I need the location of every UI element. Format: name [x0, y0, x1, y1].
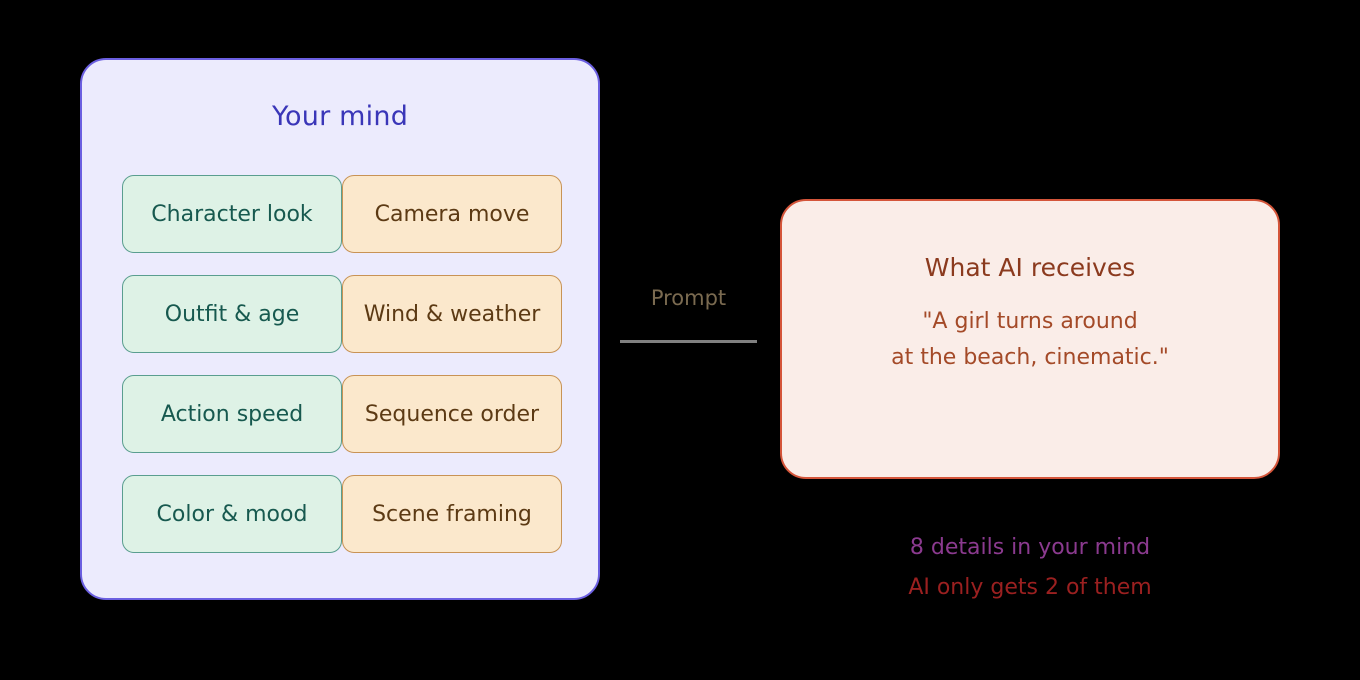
ai-quote-line-2: at the beach, cinematic."	[782, 340, 1278, 376]
what-ai-receives-panel: What AI receives "A girl turns around at…	[780, 199, 1280, 479]
your-mind-panel-title: Your mind	[82, 101, 598, 132]
summary-line-details-ai-gets: AI only gets 2 of them	[780, 568, 1280, 608]
detail-chip-camera-move[interactable]: Camera move	[342, 175, 562, 253]
prompt-connector-line	[620, 340, 757, 343]
detail-chip-character-look[interactable]: Character look	[122, 175, 342, 253]
detail-chip-wind-weather[interactable]: Wind & weather	[342, 275, 562, 353]
detail-chip-scene-framing[interactable]: Scene framing	[342, 475, 562, 553]
detail-chip-outfit-age[interactable]: Outfit & age	[122, 275, 342, 353]
detail-chip-action-speed[interactable]: Action speed	[122, 375, 342, 453]
summary-line-details-in-mind: 8 details in your mind	[780, 528, 1280, 568]
prompt-connector-label: Prompt	[620, 286, 757, 310]
what-ai-receives-panel-title: What AI receives	[782, 253, 1278, 282]
detail-chip-color-mood[interactable]: Color & mood	[122, 475, 342, 553]
detail-chip-grid: Character look Camera move Outfit & age …	[122, 175, 562, 553]
your-mind-panel: Your mind Character look Camera move Out…	[80, 58, 600, 600]
detail-chip-sequence-order[interactable]: Sequence order	[342, 375, 562, 453]
ai-quote-line-1: "A girl turns around	[782, 304, 1278, 340]
detail-loss-summary: 8 details in your mind AI only gets 2 of…	[780, 528, 1280, 608]
ai-received-prompt-quote: "A girl turns around at the beach, cinem…	[782, 304, 1278, 376]
